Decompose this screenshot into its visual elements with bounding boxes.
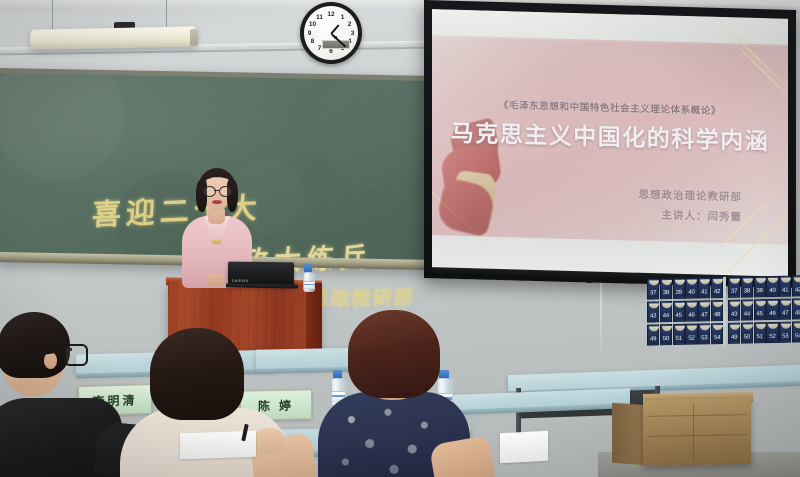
locker-lip [743,301,753,306]
locker-left-54[interactable]: 54 [711,323,723,344]
locker-number: 38 [661,290,671,296]
locker-lip [649,303,659,308]
locker-right-37[interactable]: 37 [728,277,740,298]
laptop-brand-label: Lenovo [232,278,249,283]
student-left-glasses-lens [64,344,88,366]
locker-block-divider [723,277,726,347]
locker-left-42[interactable]: 42 [711,277,723,298]
locker-lip [730,301,740,306]
locker-lip [675,279,685,284]
locker-number: 41 [699,289,709,295]
locker-lip [730,324,740,329]
locker-right-38[interactable]: 38 [741,276,753,297]
locker-lip [675,325,685,330]
locker-number: 43 [648,313,658,319]
locker-right-46[interactable]: 46 [766,299,778,320]
clock-date-window [322,40,350,49]
teacher-glasses-right-lens [219,186,232,197]
locker-lip [768,277,778,282]
locker-number: 39 [755,288,765,294]
locker-number: 52 [686,336,696,342]
lamp-wire-right [166,0,167,30]
locker-left-43[interactable]: 43 [647,301,659,322]
student-center-hand [254,428,284,454]
locker-lip [675,302,685,307]
locker-lip [781,277,791,282]
locker-left-38[interactable]: 38 [660,278,672,299]
locker-number: 40 [686,290,696,296]
storage-locker-grid: 3738394041424344454647484950515253543738… [645,275,800,348]
locker-lip [687,302,697,307]
classroom-photo: 12 1 2 3 4 5 6 7 8 9 10 11 喜迎二十大 思政大练兵 —… [0,0,800,477]
clock-num-9: 9 [305,29,314,38]
teacher-mouth [212,200,222,204]
wooden-crate [643,398,751,466]
locker-number: 51 [755,334,765,340]
clock-num-8: 8 [308,37,317,46]
student-right-hair [348,310,440,398]
locker-number: 45 [755,311,765,317]
locker-lip [794,300,800,305]
locker-number: 52 [767,334,777,340]
paper-on-desk-right [500,431,548,464]
locker-right-47[interactable]: 47 [779,299,791,320]
projector-screen: 《毛泽东思想和中国特色社会主义理论体系概论》 马克思主义中国化的科学内涵 思想政… [432,9,788,281]
bottle-body [303,272,315,292]
locker-number: 46 [767,311,777,317]
locker-lip [662,303,672,308]
locker-lip [794,323,800,328]
locker-number: 38 [742,288,752,294]
locker-number: 49 [648,336,658,342]
locker-left-46[interactable]: 46 [685,301,697,322]
locker-right-41[interactable]: 41 [779,276,791,297]
locker-right-54[interactable]: 54 [792,321,800,342]
locker-number: 47 [780,311,790,317]
locker-left-53[interactable]: 53 [698,323,710,344]
locker-lip [662,326,672,331]
locker-left-45[interactable]: 45 [673,301,685,322]
slide-speaker: 主讲人：闫秀蕾 [662,207,743,224]
locker-lip [768,300,778,305]
teacher-necklace [211,239,222,244]
locker-number: 51 [674,336,684,342]
locker-right-48[interactable]: 48 [792,298,800,319]
projector-screen-frame: 《毛泽东思想和中国特色社会主义理论体系概论》 马克思主义中国化的科学内涵 思想政… [424,0,796,288]
locker-number: 48 [793,310,800,316]
locker-number: 53 [780,334,790,340]
locker-left-37[interactable]: 37 [647,278,659,299]
teacher-hands [205,274,225,286]
wall-clock: 12 1 2 3 4 5 6 7 8 9 10 11 [300,2,362,64]
locker-right-45[interactable]: 45 [754,299,766,320]
slide-department: 思想政治理论教研部 [639,187,743,205]
teacher-glasses-bridge [214,190,219,191]
fluorescent-lamp-icon [30,26,197,49]
locker-number: 37 [648,290,658,296]
locker-lip [649,280,659,285]
locker-number: 49 [729,335,739,341]
locker-left-48[interactable]: 48 [711,300,723,321]
locker-lip [756,301,766,306]
crate-plank-line-1 [647,414,747,417]
locker-lip [649,326,659,331]
locker-number: 48 [712,312,722,318]
locker-number: 42 [712,289,722,295]
locker-left-47[interactable]: 47 [698,300,710,321]
water-bottle-podium [303,264,313,290]
locker-lip [781,323,791,328]
student-center-hair [150,328,244,420]
locker-lip [700,325,710,330]
locker-number: 46 [686,313,696,319]
clock-center-pin [334,36,337,39]
locker-lip [662,280,672,285]
locker-lip [713,278,723,283]
locker-number: 53 [699,335,709,341]
locker-number: 50 [742,334,752,340]
locker-lip [781,300,791,305]
locker-lip [768,323,778,328]
locker-lip [700,279,710,284]
locker-lip [743,324,753,329]
locker-right-39[interactable]: 39 [754,276,766,297]
locker-number: 40 [767,288,777,294]
locker-lip [700,302,710,307]
locker-number: 41 [780,288,790,294]
locker-number: 47 [699,312,709,318]
locker-number: 54 [793,333,800,339]
locker-right-44[interactable]: 44 [741,299,753,320]
locker-left-49[interactable]: 49 [647,324,659,345]
lamp-end-cap [190,29,198,46]
locker-number: 37 [729,289,739,295]
crate-plank-line-3 [693,403,694,461]
locker-lip [687,279,697,284]
locker-right-43[interactable]: 43 [728,300,740,321]
clock-num-11: 11 [315,13,324,22]
locker-left-51[interactable]: 51 [673,324,685,345]
locker-lip [756,324,766,329]
locker-lip [756,278,766,283]
locker-number: 50 [661,336,671,342]
locker-right-49[interactable]: 49 [728,323,740,344]
locker-right-50[interactable]: 50 [741,322,753,343]
locker-number: 39 [674,290,684,296]
locker-right-42[interactable]: 42 [792,275,800,296]
lamp-wire-left [52,0,53,30]
locker-number: 44 [742,311,752,317]
locker-right-40[interactable]: 40 [766,276,778,297]
locker-number: 45 [674,313,684,319]
locker-right-51[interactable]: 51 [754,322,766,343]
locker-left-52[interactable]: 52 [685,324,697,345]
crate-plank-line-2 [647,434,747,437]
locker-left-39[interactable]: 39 [673,278,685,299]
locker-lip [794,277,800,282]
locker-number: 42 [793,287,800,293]
locker-left-41[interactable]: 41 [698,277,710,298]
bottle-label-stripe [304,284,314,286]
locker-left-40[interactable]: 40 [685,278,697,299]
nameplate-label-2: 陈 婷 [258,396,294,414]
locker-left-44[interactable]: 44 [660,301,672,322]
locker-number: 43 [729,312,739,318]
locker-right-52[interactable]: 52 [766,322,778,343]
locker-left-50[interactable]: 50 [660,324,672,345]
locker-number: 44 [661,313,671,319]
bottle-label-stripe [332,395,345,397]
teacher-glasses-left-lens [203,186,216,197]
locker-lip [713,301,723,306]
student-left-hair [0,312,70,378]
screen-pull-knob[interactable] [585,278,594,283]
clock-num-12: 12 [327,10,336,19]
locker-lip [713,324,723,329]
locker-number: 54 [712,335,722,341]
student-left-ear [44,352,57,369]
locker-right-53[interactable]: 53 [779,322,791,343]
locker-lip [687,325,697,330]
locker-lip [730,278,740,283]
clock-face: 12 1 2 3 4 5 6 7 8 9 10 11 [304,6,358,60]
crate-side-panel [612,403,646,465]
locker-lip [743,278,753,283]
